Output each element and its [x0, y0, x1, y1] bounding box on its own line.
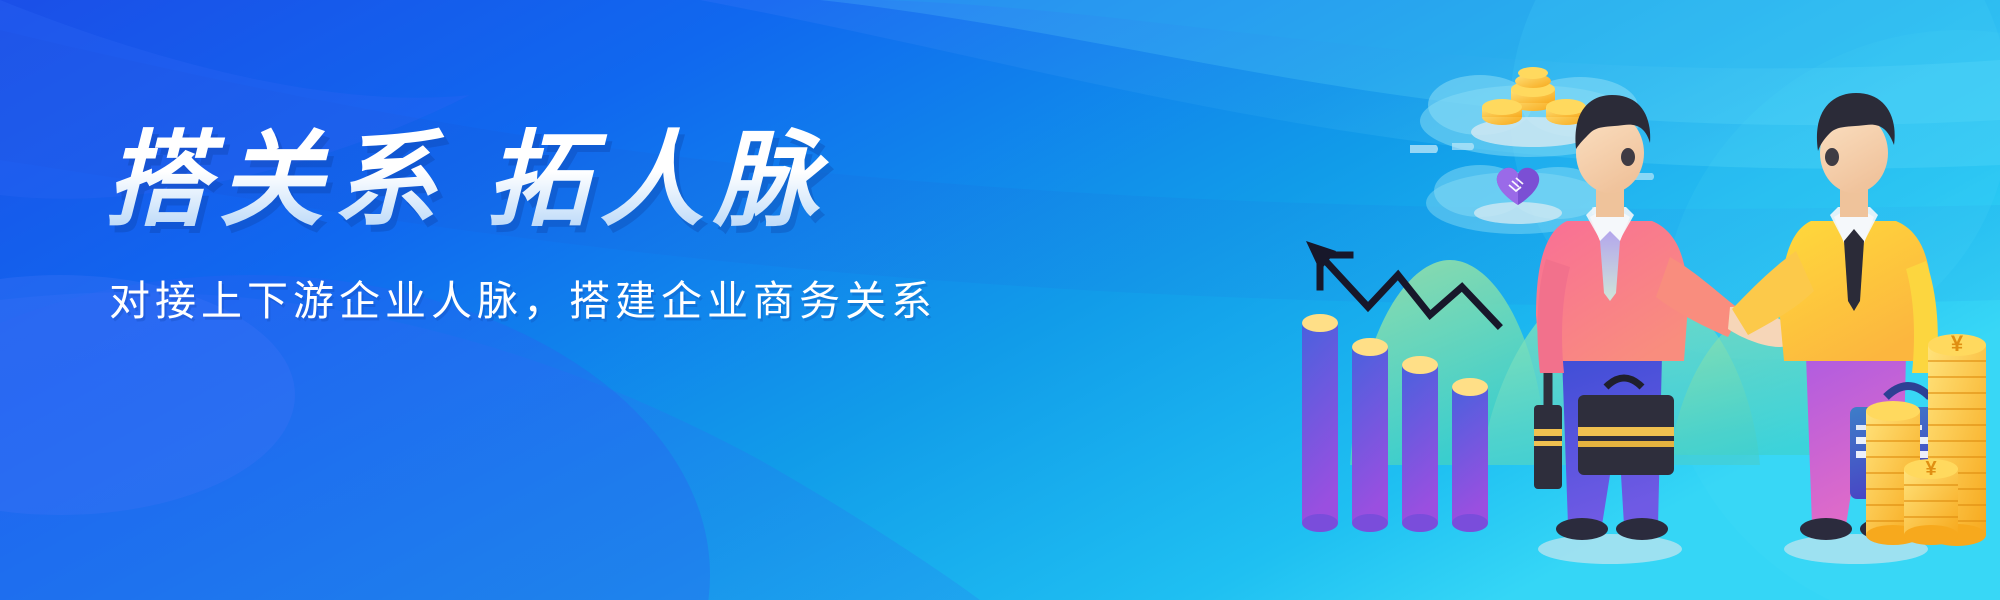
coin-stack-front: ¥ [1904, 458, 1958, 545]
coin-currency-symbol: ¥ [1951, 331, 1964, 356]
shoe [1616, 518, 1668, 540]
coin-currency-symbol: ¥ [1925, 458, 1937, 480]
promo-banner: 搭关系 拓人脉 对接上下游企业人脉，搭建企业商务关系 [0, 0, 2000, 600]
page-title: 搭关系 拓人脉 [105, 118, 1005, 245]
briefcase-handle [1886, 386, 1930, 397]
two-businessmen-handshake-illustration: ¥ ¥ [1290, 25, 1990, 600]
mini-cloud [1452, 143, 1474, 150]
shoe [1556, 518, 1608, 540]
banner-text-block: 搭关系 拓人脉 对接上下游企业人脉，搭建企业商务关系 [105, 118, 1005, 327]
mini-cloud [1410, 145, 1438, 153]
figure-shadow [1538, 534, 1682, 564]
banner-subtitle: 对接上下游企业人脉，搭建企业商务关系 [109, 267, 1005, 327]
shoe [1800, 518, 1852, 540]
